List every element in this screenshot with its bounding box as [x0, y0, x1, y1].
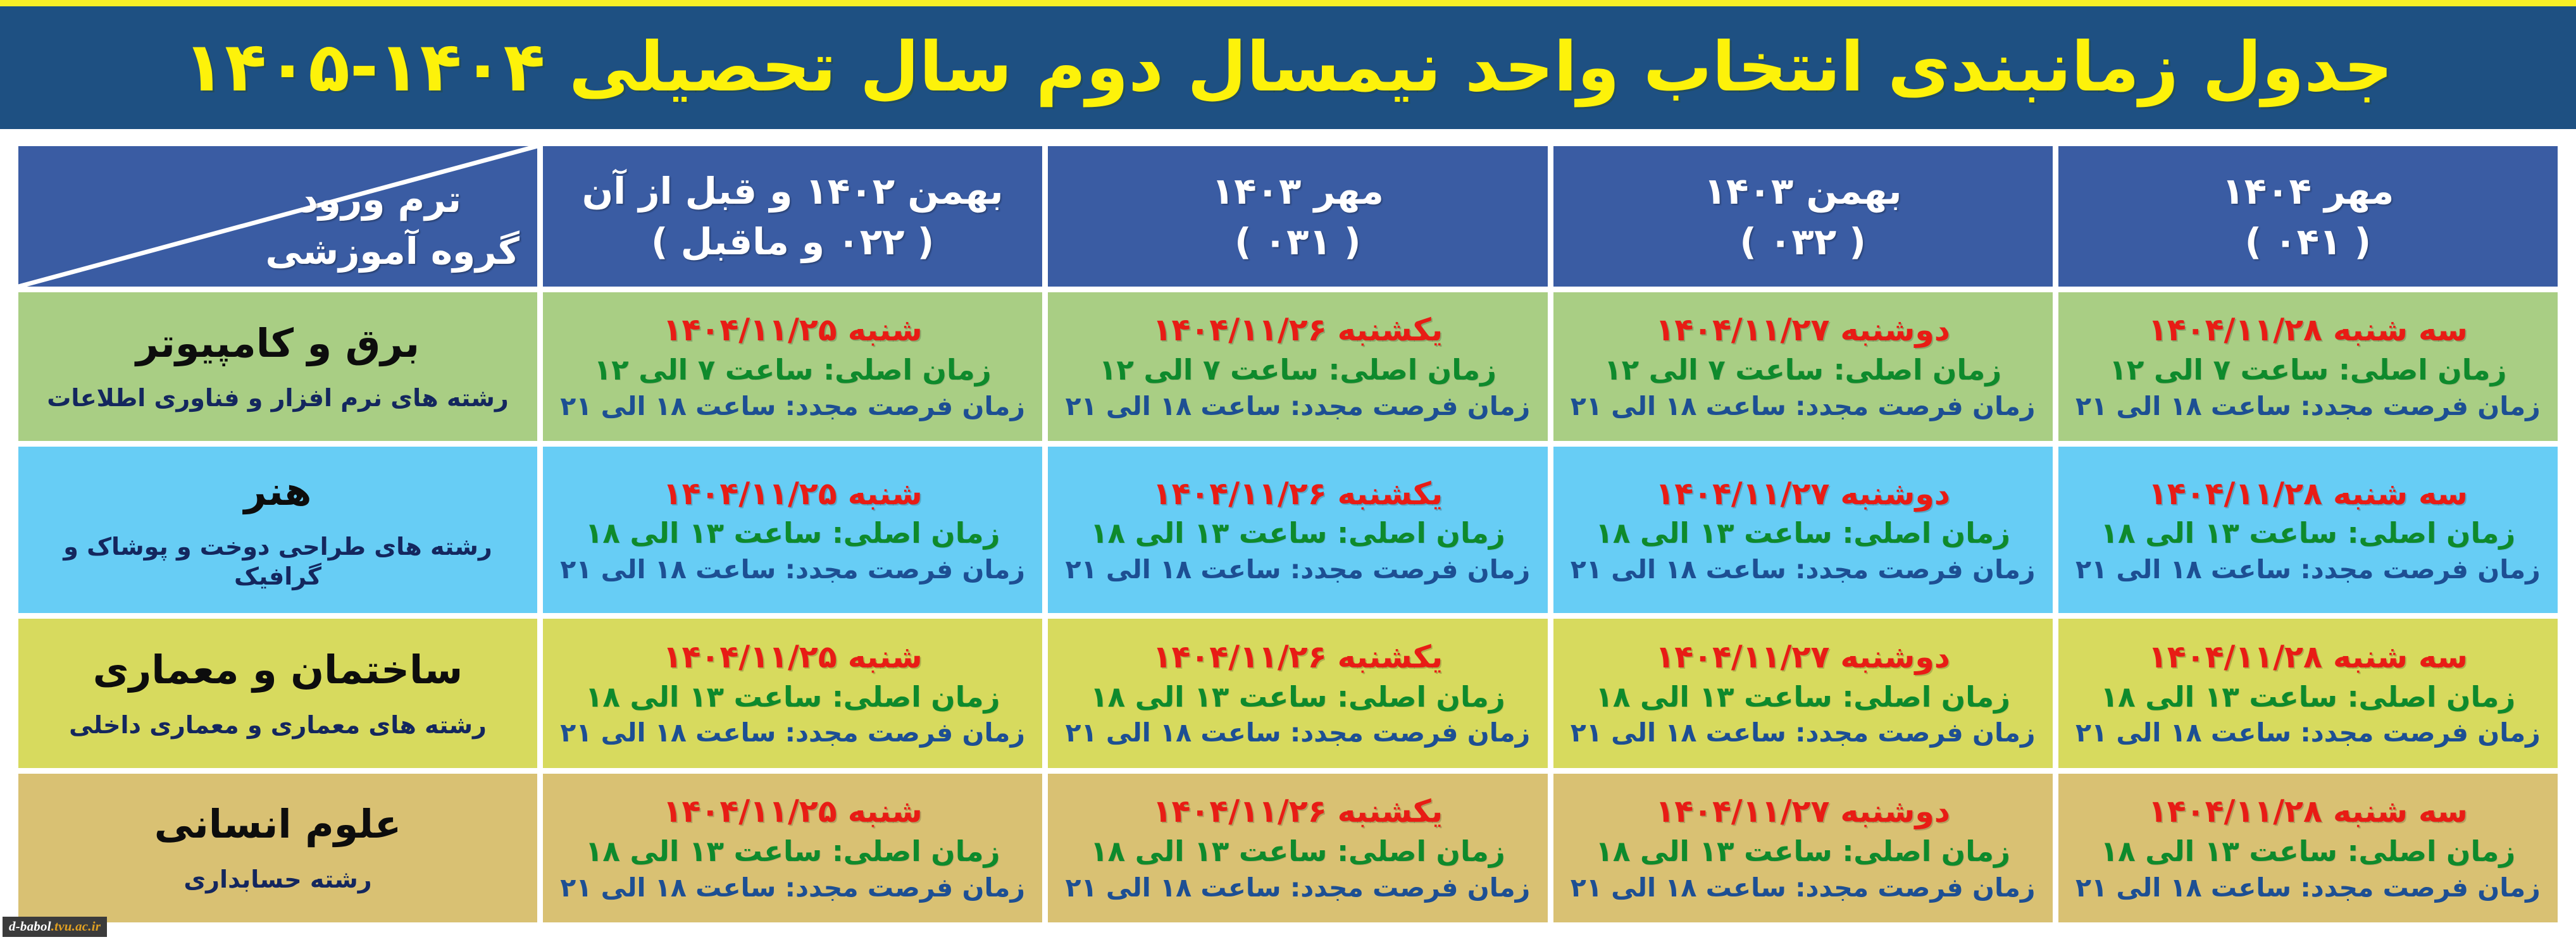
cell-main-time: زمان اصلی: ساعت ۱۳ الی ۱۸ — [543, 516, 1042, 551]
cell-date: دوشنبه ۱۴۰۴/۱۱/۲۷ — [1553, 793, 2053, 831]
group-label-humanities: علوم انسانی رشته حسابداری — [18, 774, 537, 922]
cell-main-time: زمان اصلی: ساعت ۱۳ الی ۱۸ — [543, 834, 1042, 869]
cell-main-time: زمان اصلی: ساعت ۱۳ الی ۱۸ — [543, 680, 1042, 715]
group-subtitle: رشته های طراحی دوخت و پوشاک و گرافیک — [18, 532, 537, 592]
cell-r1-c1: دوشنبه ۱۴۰۴/۱۱/۲۷ زمان اصلی: ساعت ۱۳ الی… — [1553, 447, 2053, 613]
column-header-line1: مهر ۱۴۰۳ — [1048, 166, 1547, 216]
header-row: مهر ۱۴۰۴ ( ۰۴۱ ) بهمن ۱۴۰۳ ( ۰۳۲ ) مهر ۱… — [18, 146, 2558, 287]
cell-date: یکشنبه ۱۴۰۴/۱۱/۲۶ — [1048, 311, 1547, 349]
column-header-line1: مهر ۱۴۰۴ — [2058, 166, 2558, 216]
cell-date: شنبه ۱۴۰۴/۱۱/۲۵ — [543, 475, 1042, 513]
cell-date: سه شنبه ۱۴۰۴/۱۱/۲۸ — [2058, 638, 2558, 676]
cell-r1-c3: شنبه ۱۴۰۴/۱۱/۲۵ زمان اصلی: ساعت ۱۳ الی ۱… — [543, 447, 1042, 613]
group-label-building-architecture: ساختمان و معماری رشته های معماری و معمار… — [18, 619, 537, 767]
cell-date: دوشنبه ۱۴۰۴/۱۱/۲۷ — [1553, 638, 2053, 676]
schedule-table: مهر ۱۴۰۴ ( ۰۴۱ ) بهمن ۱۴۰۳ ( ۰۳۲ ) مهر ۱… — [13, 140, 2563, 928]
cell-retry-time: زمان فرصت مجدد: ساعت ۱۸ الی ۲۱ — [2058, 554, 2558, 585]
cell-date: یکشنبه ۱۴۰۴/۱۱/۲۶ — [1048, 793, 1547, 831]
cell-date: شنبه ۱۴۰۴/۱۱/۲۵ — [543, 311, 1042, 349]
group-subtitle: رشته های نرم افزار و فناوری اطلاعات — [18, 383, 537, 414]
cell-main-time: زمان اصلی: ساعت ۱۳ الی ۱۸ — [1048, 680, 1547, 715]
cell-retry-time: زمان فرصت مجدد: ساعت ۱۸ الی ۲۱ — [543, 872, 1042, 903]
page-title: جدول زمانبندی انتخاب واحد نیمسال دوم سال… — [183, 32, 2392, 103]
cell-main-time: زمان اصلی: ساعت ۱۳ الی ۱۸ — [1553, 834, 2053, 869]
cell-r0-c2: یکشنبه ۱۴۰۴/۱۱/۲۶ زمان اصلی: ساعت ۷ الی … — [1048, 292, 1547, 441]
group-title: هنر — [18, 468, 537, 515]
corner-label-academic-group: گروه آموزشی — [265, 226, 520, 276]
cell-date: یکشنبه ۱۴۰۴/۱۱/۲۶ — [1048, 475, 1547, 513]
column-header-line1: بهمن ۱۴۰۳ — [1553, 166, 2053, 216]
cell-retry-time: زمان فرصت مجدد: ساعت ۱۸ الی ۲۱ — [2058, 717, 2558, 748]
group-label-electrical-computer: برق و کامپیوتر رشته های نرم افزار و فناو… — [18, 292, 537, 441]
cell-main-time: زمان اصلی: ساعت ۷ الی ۱۲ — [1553, 353, 2053, 388]
cell-date: دوشنبه ۱۴۰۴/۱۱/۲۷ — [1553, 311, 2053, 349]
cell-main-time: زمان اصلی: ساعت ۱۳ الی ۱۸ — [1553, 516, 2053, 551]
cell-main-time: زمان اصلی: ساعت ۱۳ الی ۱۸ — [2058, 680, 2558, 715]
cell-r3-c3: شنبه ۱۴۰۴/۱۱/۲۵ زمان اصلی: ساعت ۱۳ الی ۱… — [543, 774, 1042, 922]
cell-r2-c2: یکشنبه ۱۴۰۴/۱۱/۲۶ زمان اصلی: ساعت ۱۳ الی… — [1048, 619, 1547, 767]
cell-retry-time: زمان فرصت مجدد: ساعت ۱۸ الی ۲۱ — [543, 554, 1042, 585]
cell-date: شنبه ۱۴۰۴/۱۱/۲۵ — [543, 638, 1042, 676]
group-title: علوم انسانی — [18, 801, 537, 848]
column-header-line1: بهمن ۱۴۰۲ و قبل از آن — [543, 166, 1042, 216]
top-accent-strip — [0, 0, 2576, 6]
cell-r3-c1: دوشنبه ۱۴۰۴/۱۱/۲۷ زمان اصلی: ساعت ۱۳ الی… — [1553, 774, 2053, 922]
table-header: مهر ۱۴۰۴ ( ۰۴۱ ) بهمن ۱۴۰۳ ( ۰۳۲ ) مهر ۱… — [18, 146, 2558, 287]
cell-r2-c0: سه شنبه ۱۴۰۴/۱۱/۲۸ زمان اصلی: ساعت ۱۳ ال… — [2058, 619, 2558, 767]
cell-retry-time: زمان فرصت مجدد: ساعت ۱۸ الی ۲۱ — [543, 390, 1042, 422]
cell-retry-time: زمان فرصت مجدد: ساعت ۱۸ الی ۲۱ — [1048, 872, 1547, 903]
group-label-art: هنر رشته های طراحی دوخت و پوشاک و گرافیک — [18, 447, 537, 613]
cell-main-time: زمان اصلی: ساعت ۱۳ الی ۱۸ — [1048, 516, 1547, 551]
corner-label-entry-term: ترم ورود — [299, 174, 461, 225]
cell-date: سه شنبه ۱۴۰۴/۱۱/۲۸ — [2058, 793, 2558, 831]
cell-main-time: زمان اصلی: ساعت ۱۳ الی ۱۸ — [2058, 834, 2558, 869]
column-header-line2: ( ۰۲۲ و ماقبل ) — [543, 216, 1042, 267]
cell-r1-c0: سه شنبه ۱۴۰۴/۱۱/۲۸ زمان اصلی: ساعت ۱۳ ال… — [2058, 447, 2558, 613]
table-body: سه شنبه ۱۴۰۴/۱۱/۲۸ زمان اصلی: ساعت ۷ الی… — [18, 292, 2558, 922]
cell-retry-time: زمان فرصت مجدد: ساعت ۱۸ الی ۲۱ — [2058, 872, 2558, 903]
column-header-line2: ( ۰۳۲ ) — [1553, 216, 2053, 267]
column-header-mehr-1404: مهر ۱۴۰۴ ( ۰۴۱ ) — [2058, 146, 2558, 287]
cell-main-time: زمان اصلی: ساعت ۱۳ الی ۱۸ — [1553, 680, 2053, 715]
watermark-secondary: .tvu.ac.ir — [51, 919, 101, 934]
title-banner: جدول زمانبندی انتخاب واحد نیمسال دوم سال… — [0, 6, 2576, 129]
cell-retry-time: زمان فرصت مجدد: ساعت ۱۸ الی ۲۱ — [1048, 554, 1547, 585]
watermark-primary: d-babol — [9, 919, 51, 934]
cell-date: سه شنبه ۱۴۰۴/۱۱/۲۸ — [2058, 475, 2558, 513]
cell-r0-c0: سه شنبه ۱۴۰۴/۱۱/۲۸ زمان اصلی: ساعت ۷ الی… — [2058, 292, 2558, 441]
cell-retry-time: زمان فرصت مجدد: ساعت ۱۸ الی ۲۱ — [1048, 717, 1547, 748]
cell-main-time: زمان اصلی: ساعت ۱۳ الی ۱۸ — [1048, 834, 1547, 869]
cell-r2-c1: دوشنبه ۱۴۰۴/۱۱/۲۷ زمان اصلی: ساعت ۱۳ الی… — [1553, 619, 2053, 767]
table-row: سه شنبه ۱۴۰۴/۱۱/۲۸ زمان اصلی: ساعت ۱۳ ال… — [18, 774, 2558, 922]
cell-retry-time: زمان فرصت مجدد: ساعت ۱۸ الی ۲۱ — [1553, 872, 2053, 903]
cell-retry-time: زمان فرصت مجدد: ساعت ۱۸ الی ۲۱ — [543, 717, 1042, 748]
column-header-mehr-1403: مهر ۱۴۰۳ ( ۰۳۱ ) — [1048, 146, 1547, 287]
cell-r0-c3: شنبه ۱۴۰۴/۱۱/۲۵ زمان اصلی: ساعت ۷ الی ۱۲… — [543, 292, 1042, 441]
table-row: سه شنبه ۱۴۰۴/۱۱/۲۸ زمان اصلی: ساعت ۷ الی… — [18, 292, 2558, 441]
corner-header-cell: ترم ورود گروه آموزشی — [18, 146, 537, 287]
cell-main-time: زمان اصلی: ساعت ۷ الی ۱۲ — [543, 353, 1042, 388]
column-header-line2: ( ۰۳۱ ) — [1048, 216, 1547, 267]
cell-r1-c2: یکشنبه ۱۴۰۴/۱۱/۲۶ زمان اصلی: ساعت ۱۳ الی… — [1048, 447, 1547, 613]
cell-main-time: زمان اصلی: ساعت ۷ الی ۱۲ — [2058, 353, 2558, 388]
column-header-line2: ( ۰۴۱ ) — [2058, 216, 2558, 267]
cell-main-time: زمان اصلی: ساعت ۷ الی ۱۲ — [1048, 353, 1547, 388]
cell-date: دوشنبه ۱۴۰۴/۱۱/۲۷ — [1553, 475, 2053, 513]
cell-retry-time: زمان فرصت مجدد: ساعت ۱۸ الی ۲۱ — [2058, 390, 2558, 422]
group-title: برق و کامپیوتر — [18, 320, 537, 367]
column-header-bahman-1403: بهمن ۱۴۰۳ ( ۰۳۲ ) — [1553, 146, 2053, 287]
cell-retry-time: زمان فرصت مجدد: ساعت ۱۸ الی ۲۱ — [1553, 717, 2053, 748]
cell-retry-time: زمان فرصت مجدد: ساعت ۱۸ الی ۲۱ — [1048, 390, 1547, 422]
cell-date: سه شنبه ۱۴۰۴/۱۱/۲۸ — [2058, 311, 2558, 349]
cell-r0-c1: دوشنبه ۱۴۰۴/۱۱/۲۷ زمان اصلی: ساعت ۷ الی … — [1553, 292, 2053, 441]
cell-date: یکشنبه ۱۴۰۴/۱۱/۲۶ — [1048, 638, 1547, 676]
group-title: ساختمان و معماری — [18, 647, 537, 693]
cell-date: شنبه ۱۴۰۴/۱۱/۲۵ — [543, 793, 1042, 831]
group-subtitle: رشته های معماری و معماری داخلی — [18, 710, 537, 741]
table-row: سه شنبه ۱۴۰۴/۱۱/۲۸ زمان اصلی: ساعت ۱۳ ال… — [18, 619, 2558, 767]
cell-retry-time: زمان فرصت مجدد: ساعت ۱۸ الی ۲۱ — [1553, 390, 2053, 422]
schedule-poster: جدول زمانبندی انتخاب واحد نیمسال دوم سال… — [0, 0, 2576, 942]
group-subtitle: رشته حسابداری — [18, 865, 537, 895]
cell-r2-c3: شنبه ۱۴۰۴/۱۱/۲۵ زمان اصلی: ساعت ۱۳ الی ۱… — [543, 619, 1042, 767]
table-row: سه شنبه ۱۴۰۴/۱۱/۲۸ زمان اصلی: ساعت ۱۳ ال… — [18, 447, 2558, 613]
cell-r3-c0: سه شنبه ۱۴۰۴/۱۱/۲۸ زمان اصلی: ساعت ۱۳ ال… — [2058, 774, 2558, 922]
cell-main-time: زمان اصلی: ساعت ۱۳ الی ۱۸ — [2058, 516, 2558, 551]
cell-retry-time: زمان فرصت مجدد: ساعت ۱۸ الی ۲۱ — [1553, 554, 2053, 585]
site-watermark: d-babol.tvu.ac.ir — [3, 917, 107, 937]
schedule-table-wrapper: مهر ۱۴۰۴ ( ۰۴۱ ) بهمن ۱۴۰۳ ( ۰۳۲ ) مهر ۱… — [13, 140, 2563, 928]
cell-r3-c2: یکشنبه ۱۴۰۴/۱۱/۲۶ زمان اصلی: ساعت ۱۳ الی… — [1048, 774, 1547, 922]
column-header-bahman-1402-and-earlier: بهمن ۱۴۰۲ و قبل از آن ( ۰۲۲ و ماقبل ) — [543, 146, 1042, 287]
